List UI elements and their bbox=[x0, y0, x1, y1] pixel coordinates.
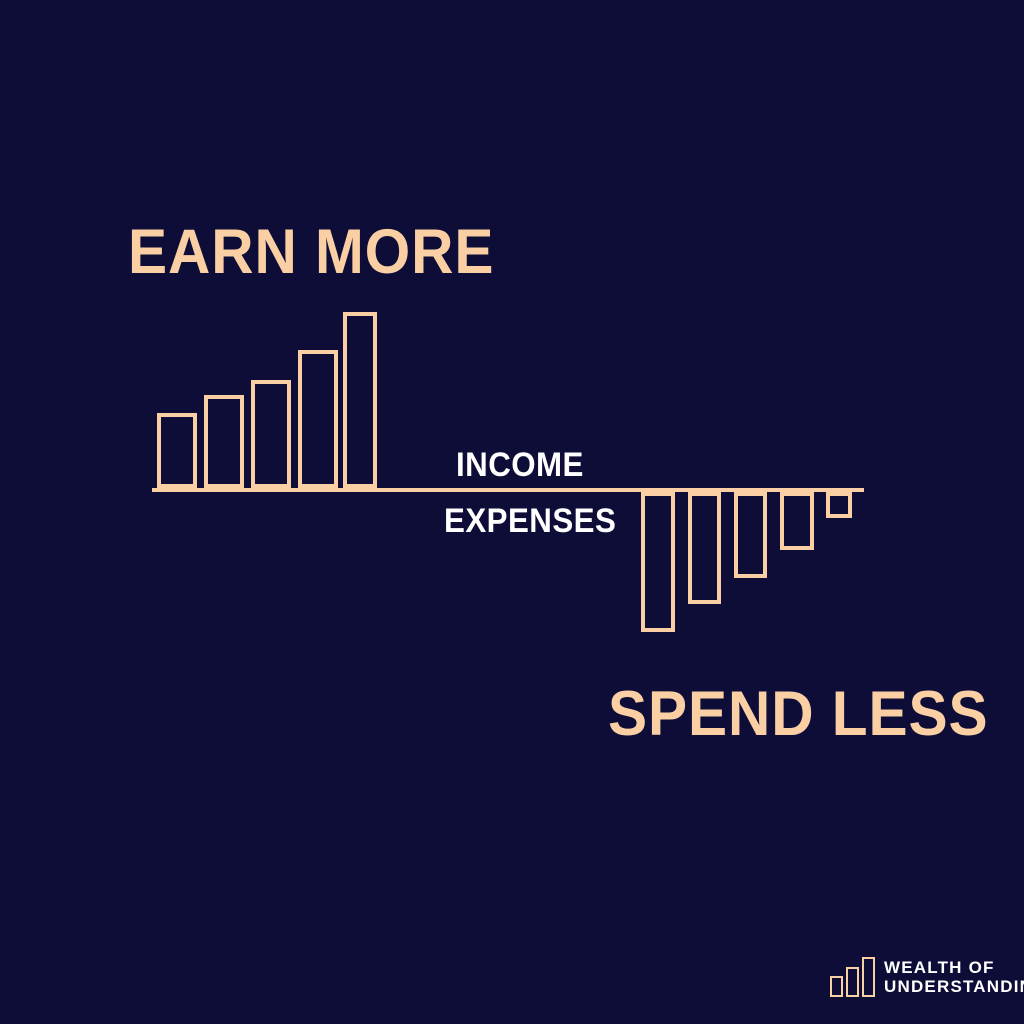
expense-bar-2 bbox=[688, 492, 721, 604]
brand-name-line2: UNDERSTANDING bbox=[884, 977, 1024, 996]
infographic-canvas: EARN MORE INCOME EXPENSES SPEND LESS WEA… bbox=[0, 0, 1024, 1024]
expense-bar-5 bbox=[826, 492, 852, 518]
logo-bar-1 bbox=[830, 976, 843, 997]
income-bar-2 bbox=[204, 395, 244, 488]
logo-bar-2 bbox=[846, 967, 859, 997]
headline-earn-more: EARN MORE bbox=[128, 221, 494, 284]
ascending-bars-icon bbox=[830, 957, 875, 997]
logo-bar-3 bbox=[862, 957, 875, 997]
headline-spend-less: SPEND LESS bbox=[608, 683, 988, 746]
series-label-expenses: EXPENSES bbox=[444, 504, 616, 538]
expense-bar-4 bbox=[780, 492, 814, 550]
income-bar-1 bbox=[157, 413, 197, 488]
series-label-income: INCOME bbox=[456, 448, 584, 482]
brand-logo: WEALTH OF UNDERSTANDING bbox=[830, 957, 1024, 997]
income-bar-5 bbox=[343, 312, 377, 488]
income-bar-3 bbox=[251, 380, 291, 488]
income-bar-4 bbox=[298, 350, 338, 488]
brand-name: WEALTH OF UNDERSTANDING bbox=[884, 958, 1024, 997]
expense-bar-1 bbox=[641, 492, 675, 632]
expense-bar-3 bbox=[734, 492, 767, 578]
brand-name-line1: WEALTH OF bbox=[884, 958, 1024, 977]
